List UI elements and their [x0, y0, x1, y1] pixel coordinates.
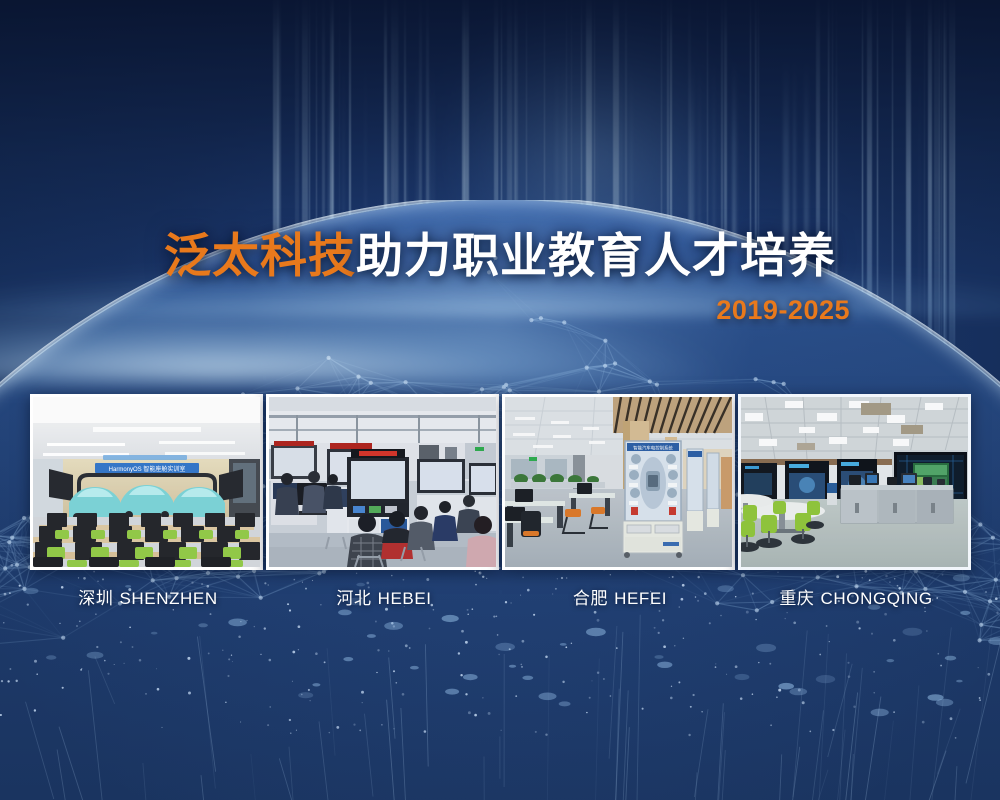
caption-hebei: 河北HEBEI — [266, 584, 502, 609]
title-tagline: 助力职业教育人才培养 — [356, 229, 836, 282]
photo-card-hebei[interactable] — [266, 394, 499, 570]
caption-hefei: 合肥HEFEI — [502, 584, 738, 609]
photo-hebei — [269, 397, 496, 567]
caption-hebei-en: HEBEI — [378, 589, 432, 608]
photo-shenzhen: HarmonyOS 智能座舱实训室 — [33, 397, 260, 567]
title-block: 泛太科技助力职业教育人才培养 2019-2025 — [0, 228, 1000, 326]
title-brand: 泛太科技 — [164, 229, 356, 282]
photo-gallery: HarmonyOS 智能座舱实训室 — [30, 394, 972, 570]
caption-chongqing-en: CHONGQING — [821, 589, 933, 608]
caption-hefei-cn: 合肥 — [573, 589, 608, 608]
year-range: 2019-2025 — [0, 295, 1000, 326]
caption-chongqing: 重庆CHONGQING — [738, 584, 974, 609]
photo-card-hefei[interactable]: 智能汽车电控制系统 — [502, 394, 735, 570]
caption-chongqing-cn: 重庆 — [779, 589, 814, 608]
photo-chongqing — [741, 397, 968, 567]
photo-captions: 深圳SHENZHEN 河北HEBEI 合肥HEFEI 重庆CHONGQING — [30, 584, 972, 609]
page-title: 泛太科技助力职业教育人才培养 — [0, 228, 1000, 283]
caption-hefei-en: HEFEI — [614, 589, 667, 608]
caption-shenzhen-en: SHENZHEN — [119, 589, 217, 608]
photo-card-shenzhen[interactable]: HarmonyOS 智能座舱实训室 — [30, 394, 263, 570]
photo-hefei: 智能汽车电控制系统 — [505, 397, 732, 567]
photo-card-chongqing[interactable] — [738, 394, 971, 570]
promo-banner: 泛太科技助力职业教育人才培养 2019-2025 — [0, 0, 1000, 800]
caption-hebei-cn: 河北 — [336, 589, 371, 608]
caption-shenzhen: 深圳SHENZHEN — [30, 584, 266, 609]
caption-shenzhen-cn: 深圳 — [78, 589, 113, 608]
